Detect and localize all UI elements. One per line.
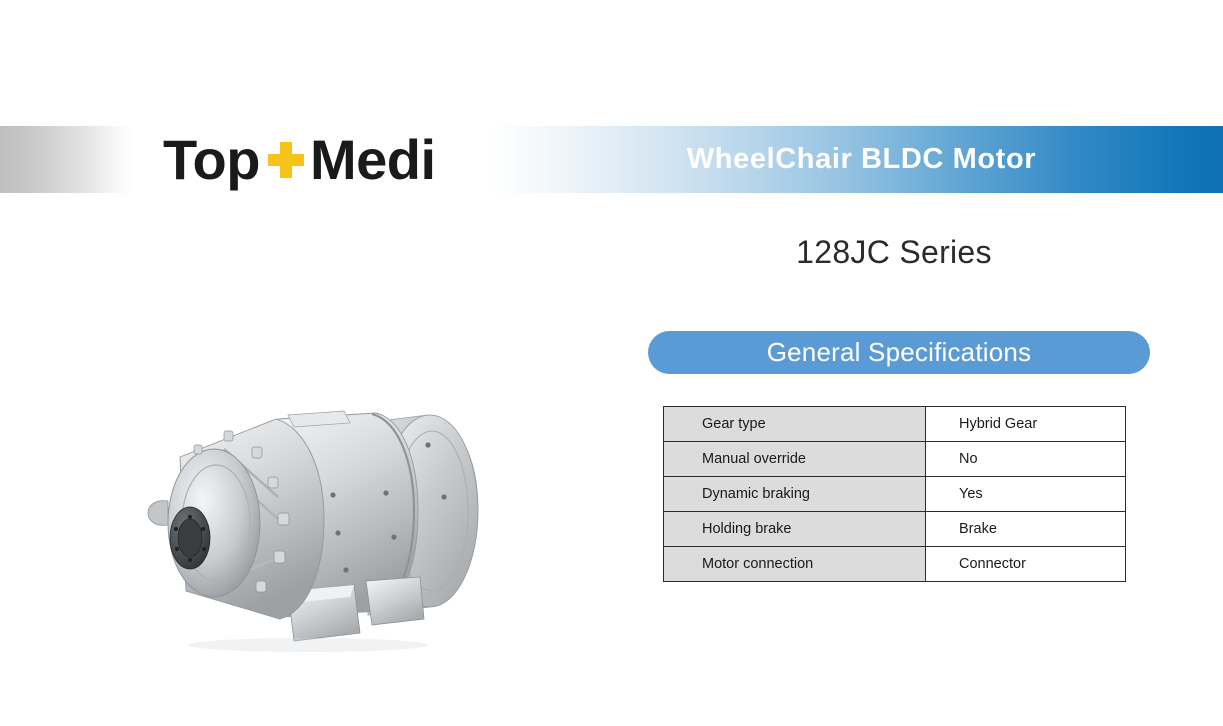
motor-gearbox-illustration [128, 405, 494, 660]
spec-value-gear-type: Hybrid Gear [926, 407, 1126, 442]
table-row: Motor connection Connector [664, 547, 1126, 582]
logo-word-medi: Medi [310, 132, 436, 188]
general-specifications-table: Gear type Hybrid Gear Manual override No… [663, 406, 1126, 582]
spec-value-manual-override: No [926, 442, 1126, 477]
series-title: 128JC Series [663, 234, 1125, 271]
spec-value-dynamic-braking: Yes [926, 477, 1126, 512]
spec-label-manual-override: Manual override [664, 442, 926, 477]
table-row: Manual override No [664, 442, 1126, 477]
general-specifications-header: General Specifications [648, 331, 1150, 374]
ground-shadow [188, 638, 428, 652]
table-row: Dynamic braking Yes [664, 477, 1126, 512]
spec-label-dynamic-braking: Dynamic braking [664, 477, 926, 512]
spec-label-motor-connection: Motor connection [664, 547, 926, 582]
spec-label-holding-brake: Holding brake [664, 512, 926, 547]
table-row: Gear type Hybrid Gear [664, 407, 1126, 442]
table-row: Holding brake Brake [664, 512, 1126, 547]
spec-label-gear-type: Gear type [664, 407, 926, 442]
hub-bolt [188, 558, 192, 562]
hub-bolt [201, 527, 205, 531]
hub-bolt [202, 547, 206, 551]
shaft-bore [178, 519, 202, 557]
table-body: Gear type Hybrid Gear Manual override No… [664, 407, 1126, 582]
brand-logo: Top Medi [163, 126, 436, 193]
plus-cross-icon [268, 142, 304, 178]
product-image [128, 405, 494, 660]
logo-word-top: Top [163, 132, 260, 188]
spec-value-motor-connection: Connector [926, 547, 1126, 582]
page-root: Top Medi WheelChair BLDC Motor 128JC Ser… [0, 0, 1223, 726]
hub-bolt [174, 527, 178, 531]
banner-title: WheelChair BLDC Motor [490, 126, 1223, 193]
cable-gland [148, 501, 168, 526]
hub-bolt [175, 547, 179, 551]
spec-value-holding-brake: Brake [926, 512, 1126, 547]
mounting-foot-rear [366, 577, 424, 625]
hub-bolt [188, 515, 192, 519]
header-left-gradient-strip [0, 126, 132, 193]
